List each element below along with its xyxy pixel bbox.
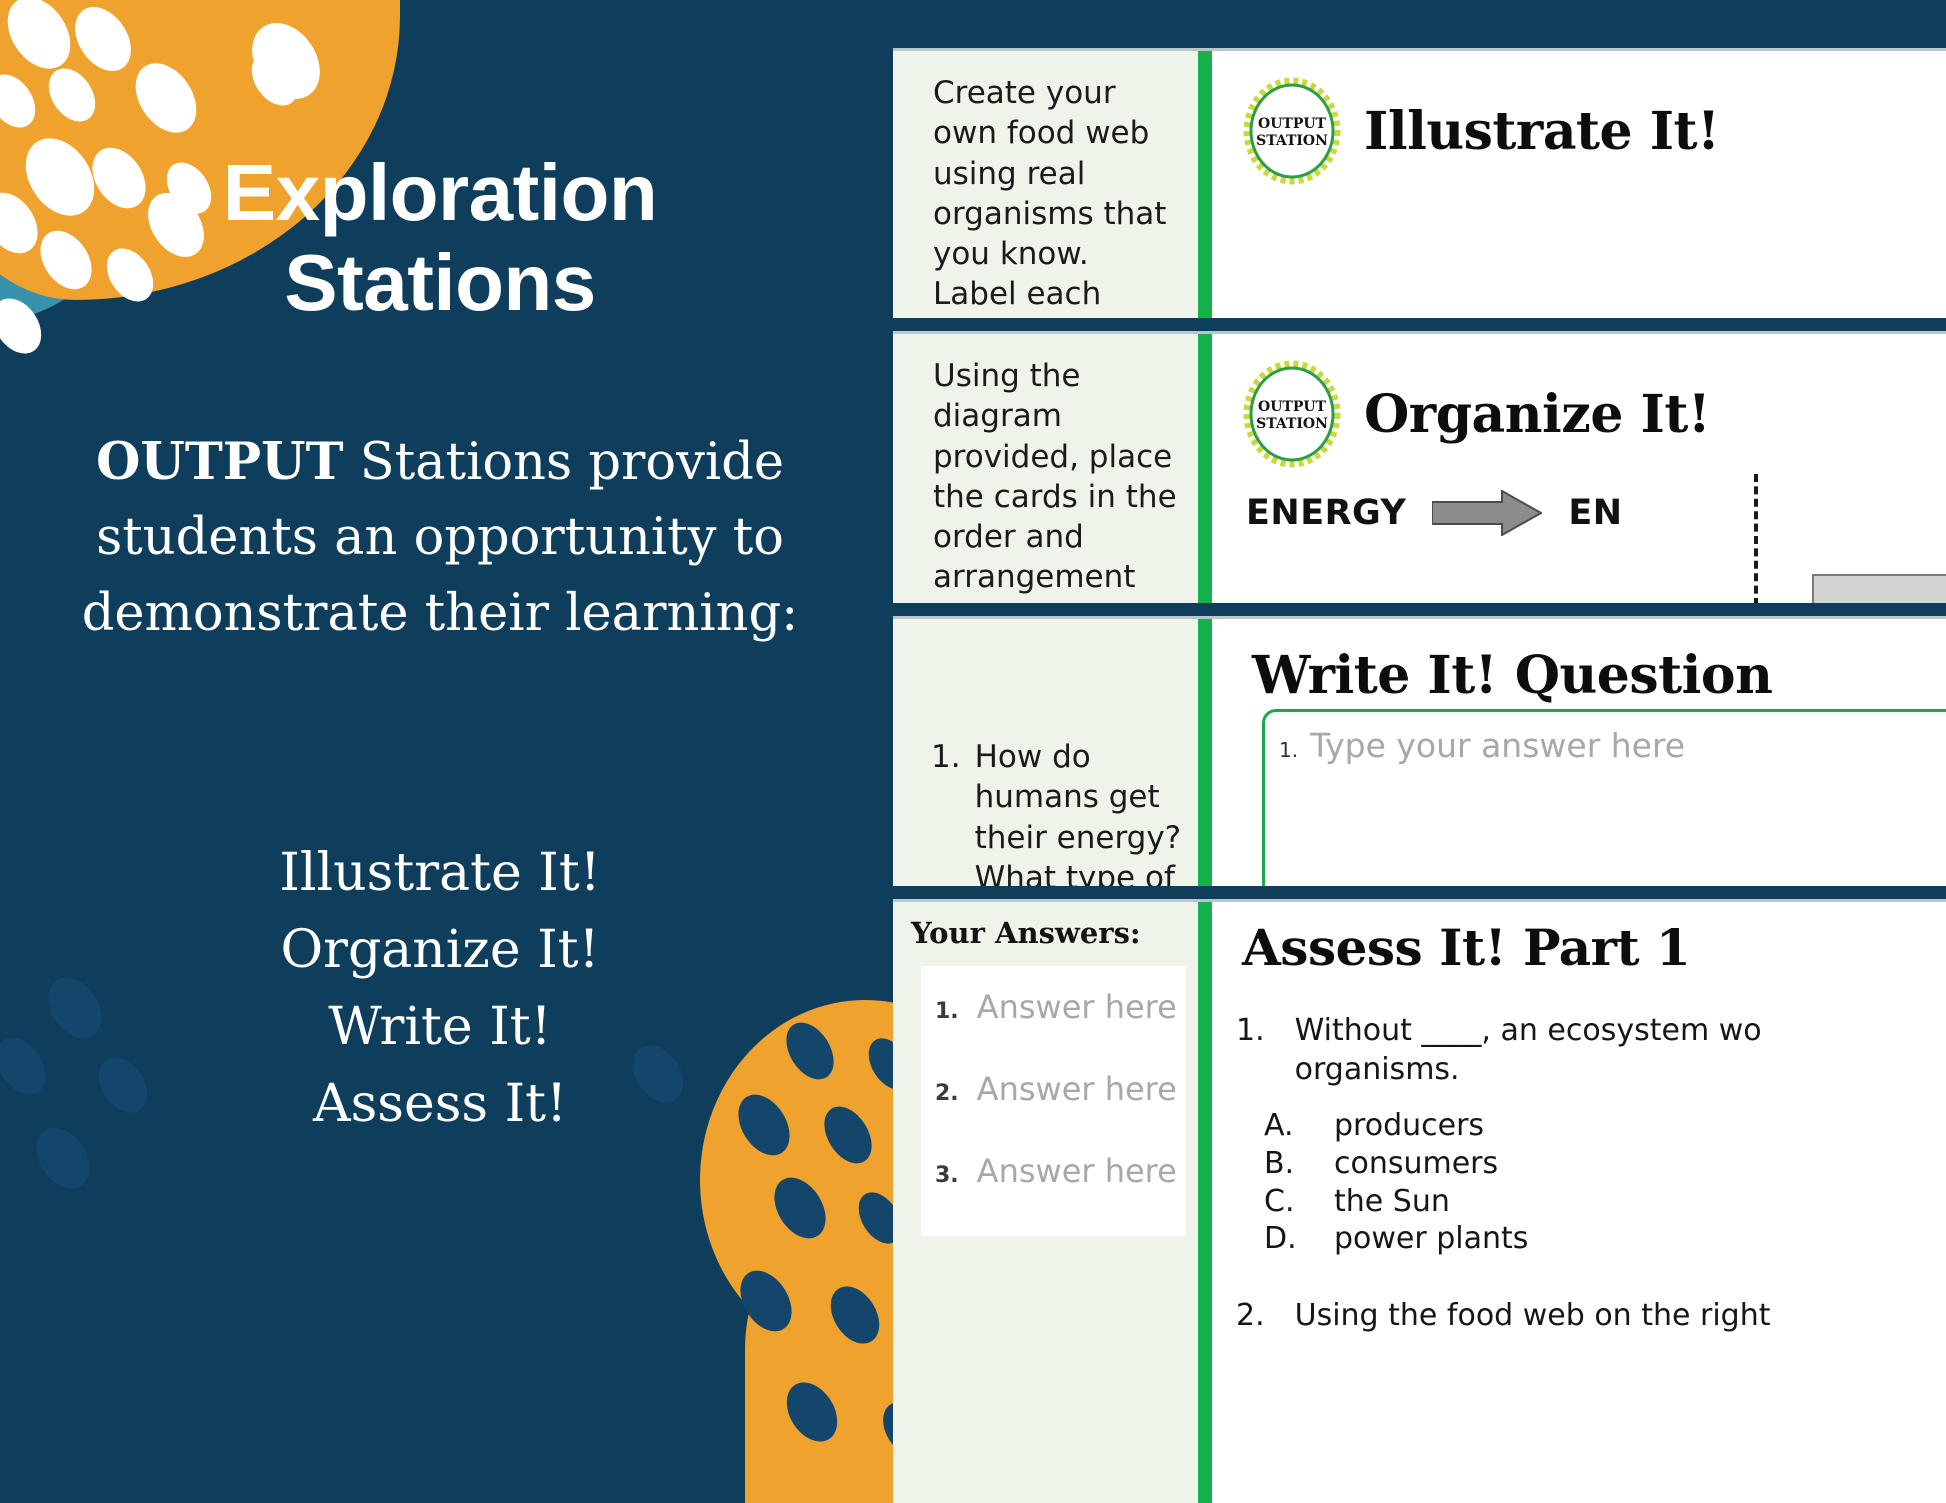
slide-title-organize: Organize It! — [1364, 384, 1710, 445]
mc-question-2: 2. Using the food web on the right — [1236, 1298, 1946, 1333]
mc-option-b[interactable]: B. consumers — [1264, 1145, 1946, 1183]
dashed-connector-line — [1754, 474, 1758, 603]
mc-question-1-stem-line-1: Without ____, an ecosystem wo — [1295, 1013, 1762, 1048]
intro-strong-word: OUTPUT — [96, 432, 344, 492]
station-header: OUTPUT STATION Illustrate It! — [1212, 51, 1946, 185]
prompt-text-illustrate: Create your own food web using real orga… — [893, 51, 1198, 318]
page-title-line-1: Exploration — [60, 148, 820, 238]
station-name-assess: Assess It! — [40, 1066, 840, 1143]
intro-paragraph: OUTPUT Stations provide students an oppo… — [40, 425, 840, 651]
seal-line-1: OUTPUT — [1258, 116, 1327, 132]
slide-body-illustrate: OUTPUT STATION Illustrate It! — [1212, 51, 1946, 318]
slide-preview-illustrate-it[interactable]: Create your own food web using real orga… — [893, 48, 1946, 318]
answer-number: 3. — [935, 1163, 959, 1188]
mc-question-2-stem: Using the food web on the right — [1295, 1298, 1771, 1333]
station-name-illustrate: Illustrate It! — [40, 835, 840, 912]
station-name-organize: Organize It! — [40, 912, 840, 989]
mc-question-1-number: 1. — [1236, 1011, 1265, 1089]
output-station-seal-icon: OUTPUT STATION — [1242, 360, 1342, 468]
mc-option-c-text: the Sun — [1334, 1183, 1450, 1221]
page-title: Exploration Stations — [60, 148, 820, 327]
answers-box[interactable]: 1. Answer here 2. Answer here 3. Answer … — [921, 966, 1186, 1236]
answer-textbox[interactable]: 1. Type your answer here — [1262, 709, 1946, 886]
slide-body-write: Write It! Question 1. Type your answer h… — [1212, 619, 1946, 886]
slide-title-write: Write It! Question — [1252, 645, 1772, 706]
green-accent-bar — [1198, 902, 1212, 1503]
energy-flow-diagram: ENERGY EN — [1212, 468, 1946, 536]
seal-line-2: STATION — [1256, 133, 1328, 149]
multiple-choice-block: 1. Without ____, an ecosystem wo organis… — [1212, 977, 1946, 1333]
station-header: OUTPUT STATION Organize It! — [1212, 334, 1946, 468]
station-header: Write It! Question — [1212, 619, 1946, 706]
your-answers-label: Your Answers: — [893, 902, 1198, 950]
slide-preview-stack: Create your own food web using real orga… — [893, 0, 1946, 1503]
question-number: 1. — [931, 737, 961, 886]
answer-placeholder: Answer here — [977, 1070, 1177, 1108]
mc-option-a-letter: A. — [1264, 1107, 1296, 1145]
mc-question-2-number: 2. — [1236, 1298, 1265, 1333]
mc-option-b-text: consumers — [1334, 1145, 1498, 1183]
mc-option-b-letter: B. — [1264, 1145, 1296, 1183]
answer-row[interactable]: 3. Answer here — [921, 1152, 1186, 1190]
diagram-card-placeholder[interactable] — [1812, 574, 1946, 603]
question-text: How do humans get their energy? What typ… — [975, 737, 1186, 886]
answer-placeholder: Answer here — [977, 988, 1177, 1026]
slide-title-illustrate: Illustrate It! — [1364, 101, 1719, 162]
page-title-line-2: Stations — [60, 238, 820, 328]
right-arrow-icon — [1432, 490, 1542, 536]
slide-title-assess: Assess It! Part 1 — [1212, 902, 1946, 977]
mc-question-1-stem-line-2: organisms. — [1295, 1052, 1460, 1087]
seal-line-2: STATION — [1256, 416, 1328, 432]
left-content-column: Exploration Stations OUTPUT Stations pro… — [0, 0, 880, 1503]
station-name-list: Illustrate It! Organize It! Write It! As… — [40, 835, 840, 1143]
mc-option-d-text: power plants — [1334, 1220, 1528, 1258]
mc-option-a-text: producers — [1334, 1107, 1484, 1145]
energy-label-right: EN — [1568, 493, 1622, 533]
slide-prompt-column: Using the diagram provided, place the ca… — [893, 334, 1198, 603]
mc-question-1-stem: Without ____, an ecosystem wo organisms. — [1295, 1011, 1762, 1089]
mc-option-a[interactable]: A. producers — [1264, 1107, 1946, 1145]
output-station-seal-icon: OUTPUT STATION — [1242, 77, 1342, 185]
prompt-text-organize: Using the diagram provided, place the ca… — [893, 334, 1198, 603]
green-accent-bar — [1198, 619, 1212, 886]
mc-options-list: A. producers B. consumers C. the Sun D. … — [1236, 1107, 1946, 1258]
green-accent-bar — [1198, 334, 1212, 603]
slide-preview-write-it[interactable]: 1. How do humans get their energy? What … — [893, 616, 1946, 886]
mc-question-1: 1. Without ____, an ecosystem wo organis… — [1236, 1011, 1946, 1089]
answer-row[interactable]: 1. Answer here — [921, 988, 1186, 1026]
slide-body-assess: Assess It! Part 1 1. Without ____, an ec… — [1212, 902, 1946, 1503]
answer-number: 2. — [935, 1081, 959, 1106]
mc-option-c[interactable]: C. the Sun — [1264, 1183, 1946, 1221]
answer-placeholder: Type your answer here — [1310, 726, 1685, 765]
answer-number: 1. — [935, 999, 959, 1024]
answer-row: 1. Type your answer here — [1265, 712, 1946, 765]
energy-label-left: ENERGY — [1246, 493, 1406, 533]
mc-option-d-letter: D. — [1264, 1220, 1296, 1258]
slide-preview-assess-it[interactable]: Your Answers: 1. Answer here 2. Answer h… — [893, 899, 1946, 1503]
answer-row[interactable]: 2. Answer here — [921, 1070, 1186, 1108]
green-accent-bar — [1198, 51, 1212, 318]
mc-option-c-letter: C. — [1264, 1183, 1296, 1221]
question-block: 1. How do humans get their energy? What … — [893, 619, 1198, 886]
answer-placeholder: Answer here — [977, 1152, 1177, 1190]
station-name-write: Write It! — [40, 989, 840, 1066]
slide-answers-column: Your Answers: 1. Answer here 2. Answer h… — [893, 902, 1198, 1503]
slide-prompt-column: 1. How do humans get their energy? What … — [893, 619, 1198, 886]
slide-body-organize: OUTPUT STATION Organize It! ENERGY EN — [1212, 334, 1946, 603]
mc-option-d[interactable]: D. power plants — [1264, 1220, 1946, 1258]
slide-preview-organize-it[interactable]: Using the diagram provided, place the ca… — [893, 331, 1946, 603]
slide-prompt-column: Create your own food web using real orga… — [893, 51, 1198, 318]
seal-line-1: OUTPUT — [1258, 399, 1327, 415]
answer-number: 1. — [1279, 738, 1298, 762]
